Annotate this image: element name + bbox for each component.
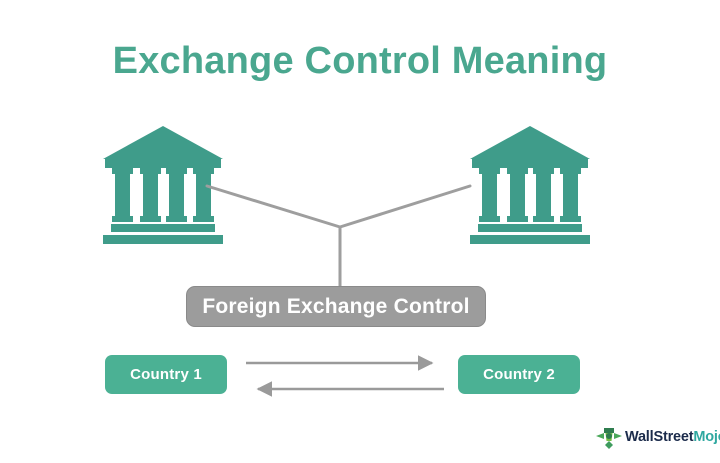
bank-step-lower [103,235,223,244]
bank-icon-right [470,126,590,244]
country-2-label: Country 2 [483,366,555,383]
diagram-canvas: Exchange Control Meaning [0,0,720,463]
bank-icon-left [103,126,223,244]
bank-column [196,170,211,220]
bank-column [482,170,497,220]
bank-column [115,170,130,220]
bank-column [143,170,158,220]
foreign-exchange-control-label: Foreign Exchange Control [202,295,469,319]
country-2-chip[interactable]: Country 2 [458,355,580,394]
bank-column-base [560,216,581,222]
country-1-label: Country 1 [130,366,202,383]
bank-column [563,170,578,220]
wallstreetmojo-wordmark: WallStreetMojo [625,429,720,445]
logo-word-primary: WallStreet [625,429,693,445]
page-title: Exchange Control Meaning [0,40,720,83]
bank-column-base [479,216,500,222]
wallstreetmojo-mark-icon [594,422,624,452]
bank-column [510,170,525,220]
wallstreetmojo-logo[interactable]: WallStreetMojo [594,420,710,454]
logo-word-secondary: Mojo [693,429,720,445]
bank-column [536,170,551,220]
bank-column-base [193,216,214,222]
bank-step-upper [111,224,215,232]
foreign-exchange-control-box[interactable]: Foreign Exchange Control [186,286,486,327]
bank-architrave [472,159,588,168]
bank-pediment [470,126,590,159]
bank-column-base [166,216,187,222]
country-1-chip[interactable]: Country 1 [105,355,227,394]
bank-step-lower [470,235,590,244]
bank-column-base [533,216,554,222]
bank-column-base [112,216,133,222]
bank-column-base [507,216,528,222]
bank-pediment [103,126,223,159]
bank-column [169,170,184,220]
bank-column-base [140,216,161,222]
flow-arrows [240,348,450,400]
bank-step-upper [478,224,582,232]
bank-architrave [105,159,221,168]
